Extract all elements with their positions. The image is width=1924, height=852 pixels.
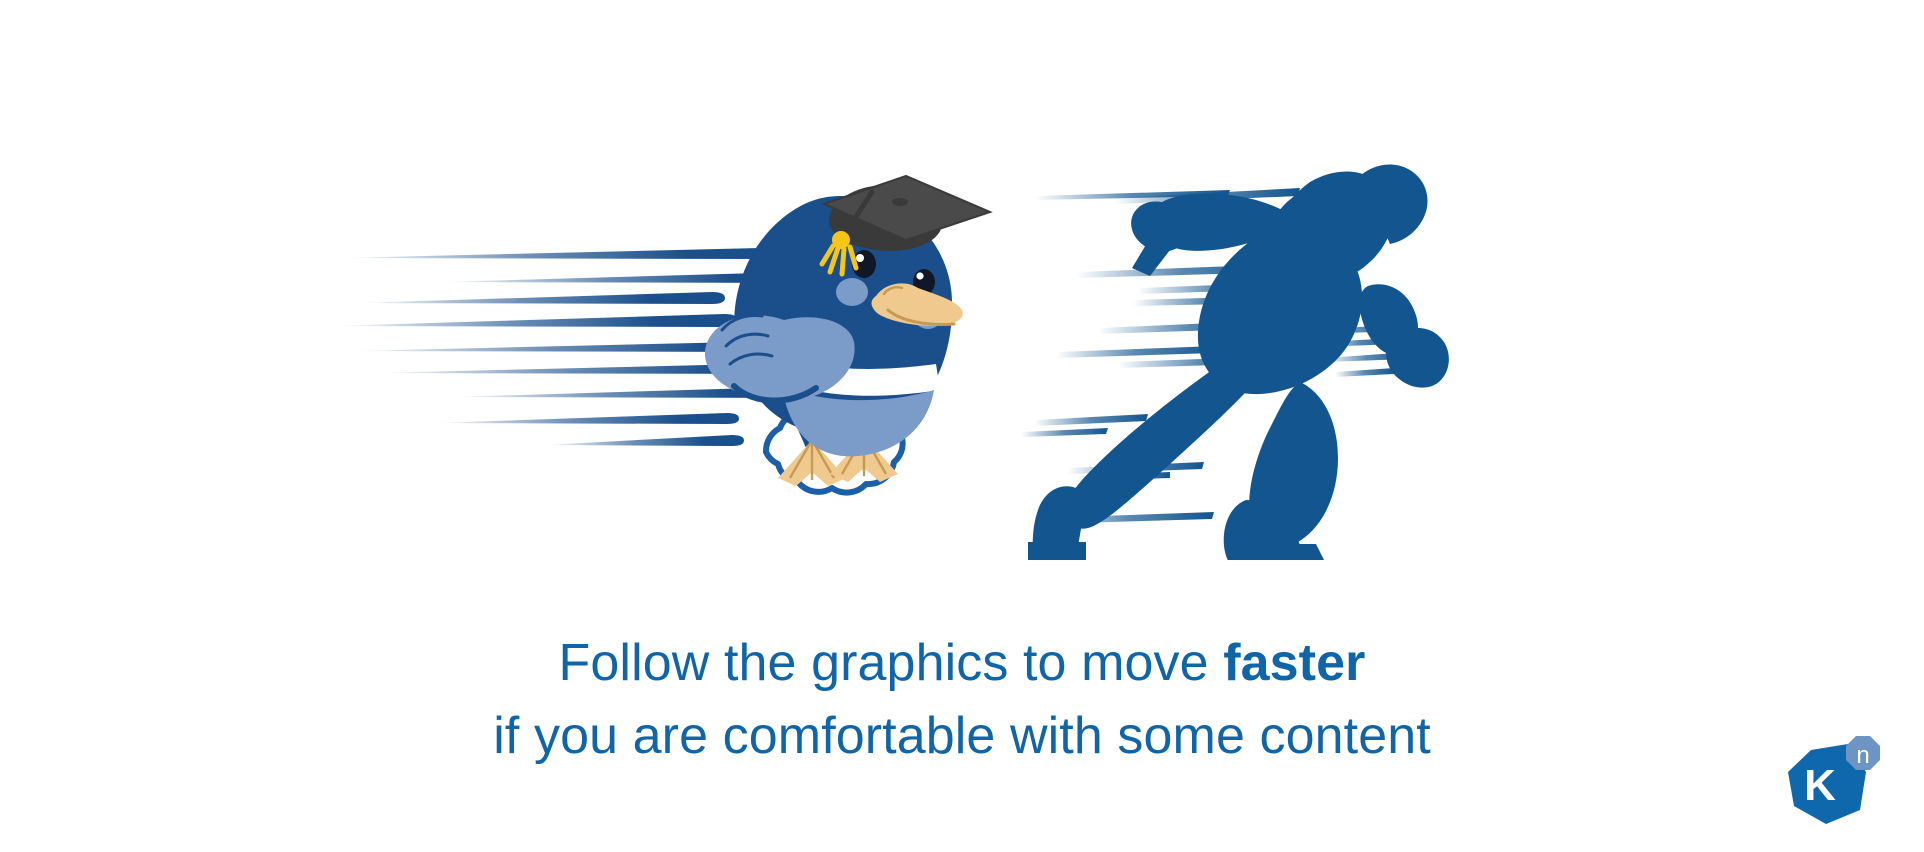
caption-line-1: Follow the graphics to move faster — [0, 630, 1924, 697]
sprinter-silhouette-icon — [1028, 164, 1449, 560]
graduate-bird-icon — [705, 176, 990, 493]
logo-secondary-letter: n — [1856, 742, 1869, 769]
caption-line-2: if you are comfortable with some content — [0, 703, 1924, 770]
graphics-illustration — [0, 0, 1924, 560]
logo-primary-letter: K — [1804, 761, 1836, 810]
kn-logo: K n — [1778, 734, 1886, 838]
caption-block: Follow the graphics to move faster if yo… — [0, 630, 1924, 769]
caption-line-1-prefix: Follow the graphics to move — [559, 634, 1224, 692]
slide-canvas: Follow the graphics to move faster if yo… — [0, 0, 1924, 852]
caption-line-1-emphasis: faster — [1223, 634, 1365, 692]
